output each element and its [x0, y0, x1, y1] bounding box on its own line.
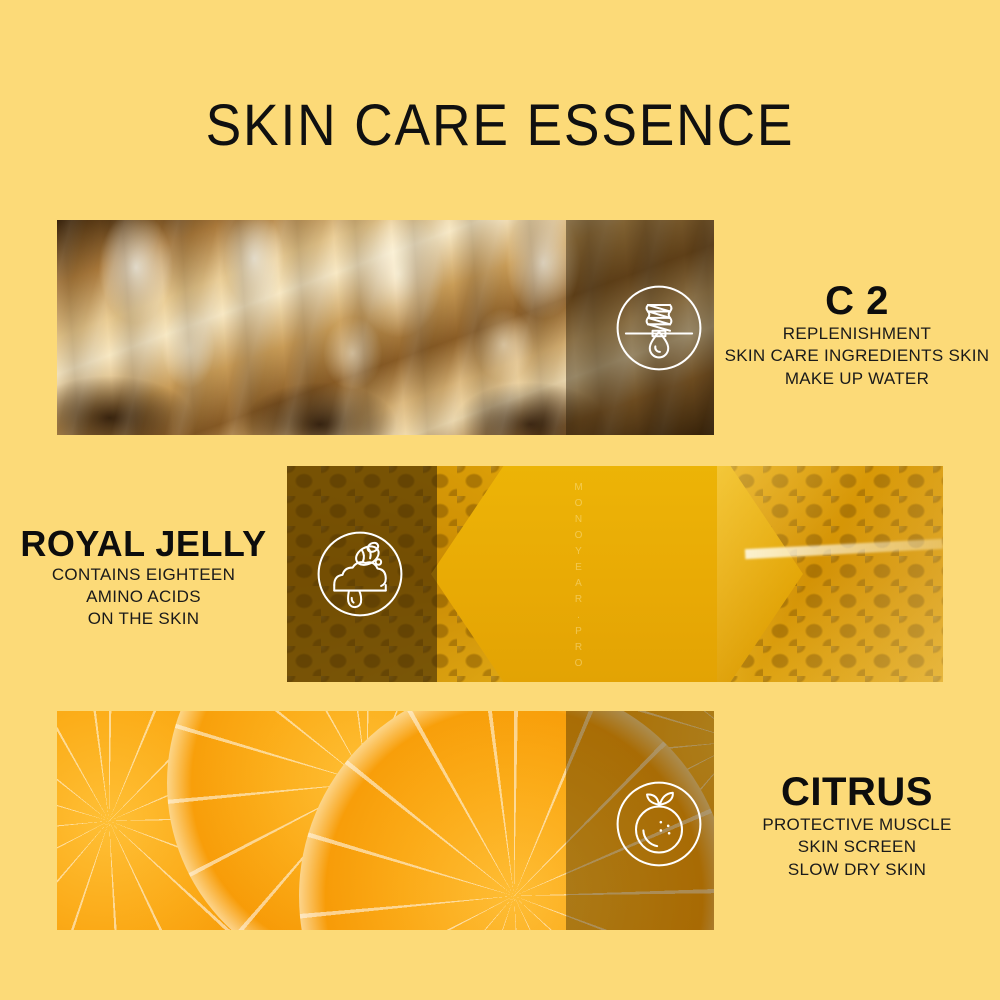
orange-fruit-icon	[613, 778, 705, 870]
section-text-c2: C 2 REPLENISHMENT SKIN CARE INGREDIENTS …	[714, 279, 1000, 390]
section-line: SLOW DRY SKIN	[714, 859, 1000, 881]
bee-jelly-icon	[314, 528, 406, 620]
section-image-royal-jelly: MONOYEAR.PRODUCT.COM	[287, 466, 943, 682]
page-title: SKIN CARE ESSENCE	[40, 92, 960, 159]
section-text-citrus: CITRUS PROTECTIVE MUSCLE SKIN SCREEN SLO…	[714, 770, 1000, 881]
section-line: SKIN CARE INGREDIENTS SKIN	[714, 345, 1000, 367]
section-image-citrus	[57, 711, 714, 930]
section-heading-royal-jelly: ROYAL JELLY	[0, 524, 287, 564]
section-line: CONTAINS EIGHTEEN	[0, 564, 287, 586]
section-line: SKIN SCREEN	[714, 836, 1000, 858]
section-line: PROTECTIVE MUSCLE	[714, 814, 1000, 836]
section-line: ON THE SKIN	[0, 608, 287, 630]
section-text-royal-jelly: ROYAL JELLY CONTAINS EIGHTEEN AMINO ACID…	[0, 524, 287, 631]
section-line: AMINO ACIDS	[0, 586, 287, 608]
section-line: REPLENISHMENT	[714, 323, 1000, 345]
dropper-coil-icon	[613, 282, 705, 374]
section-image-c2	[57, 220, 714, 435]
section-heading-citrus: CITRUS	[714, 770, 1000, 814]
poster-canvas: SKIN CARE ESSENCE	[0, 0, 1000, 1000]
section-heading-c2: C 2	[714, 279, 1000, 323]
watermark-text: MONOYEAR.PRODUCT.COM	[570, 482, 584, 668]
section-line: MAKE UP WATER	[714, 368, 1000, 390]
